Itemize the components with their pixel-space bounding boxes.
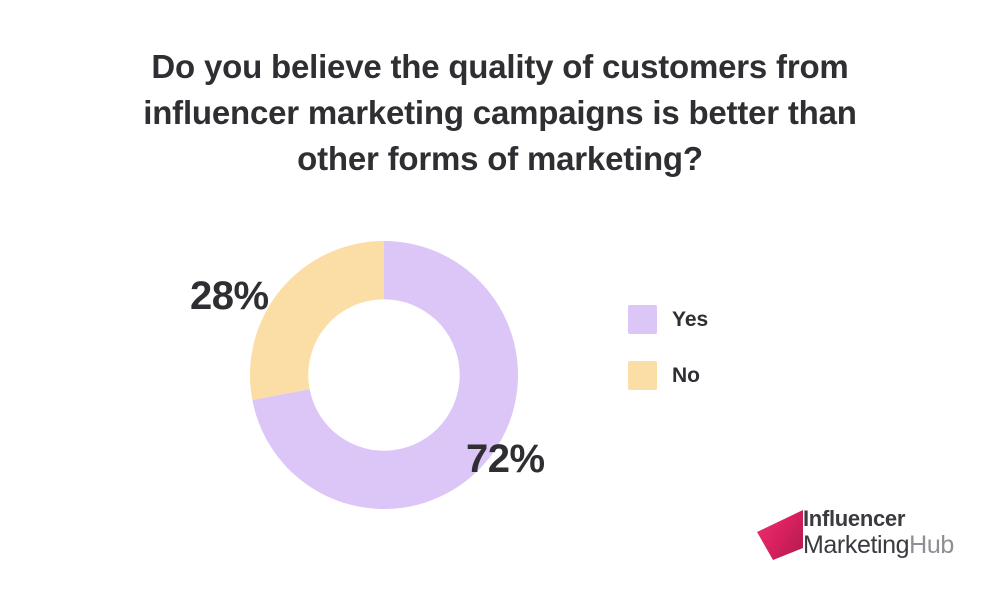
donut-value-label-yes: 72% [466, 437, 545, 482]
legend-swatch-yes [628, 305, 657, 334]
legend-label-yes: Yes [672, 309, 708, 330]
legend-label-no: No [672, 365, 700, 386]
chart-legend: Yes No [628, 305, 708, 390]
donut-slice-no[interactable] [250, 241, 384, 400]
chart-title-line-3: other forms of marketing? [60, 136, 940, 182]
legend-item-yes[interactable]: Yes [628, 305, 708, 334]
brand-logo-line-2: MarketingHub [803, 533, 954, 558]
brand-logo-line-1: Influencer [803, 508, 954, 530]
brand-logo-hub: Hub [909, 531, 954, 559]
brand-logo[interactable]: Influencer MarketingHub [757, 506, 954, 560]
chart-title-line-2: influencer marketing campaigns is better… [60, 90, 940, 136]
donut-value-label-no: 28% [190, 274, 269, 319]
legend-item-no[interactable]: No [628, 361, 708, 390]
chart-container: Do you believe the quality of customers … [0, 0, 1000, 593]
chart-title-line-1: Do you believe the quality of customers … [60, 44, 940, 90]
brand-logo-marketing: Marketing [803, 531, 909, 559]
brand-logo-text: Influencer MarketingHub [807, 508, 954, 558]
legend-swatch-no [628, 361, 657, 390]
chart-title: Do you believe the quality of customers … [60, 44, 940, 182]
play-triangle-icon [757, 508, 803, 560]
